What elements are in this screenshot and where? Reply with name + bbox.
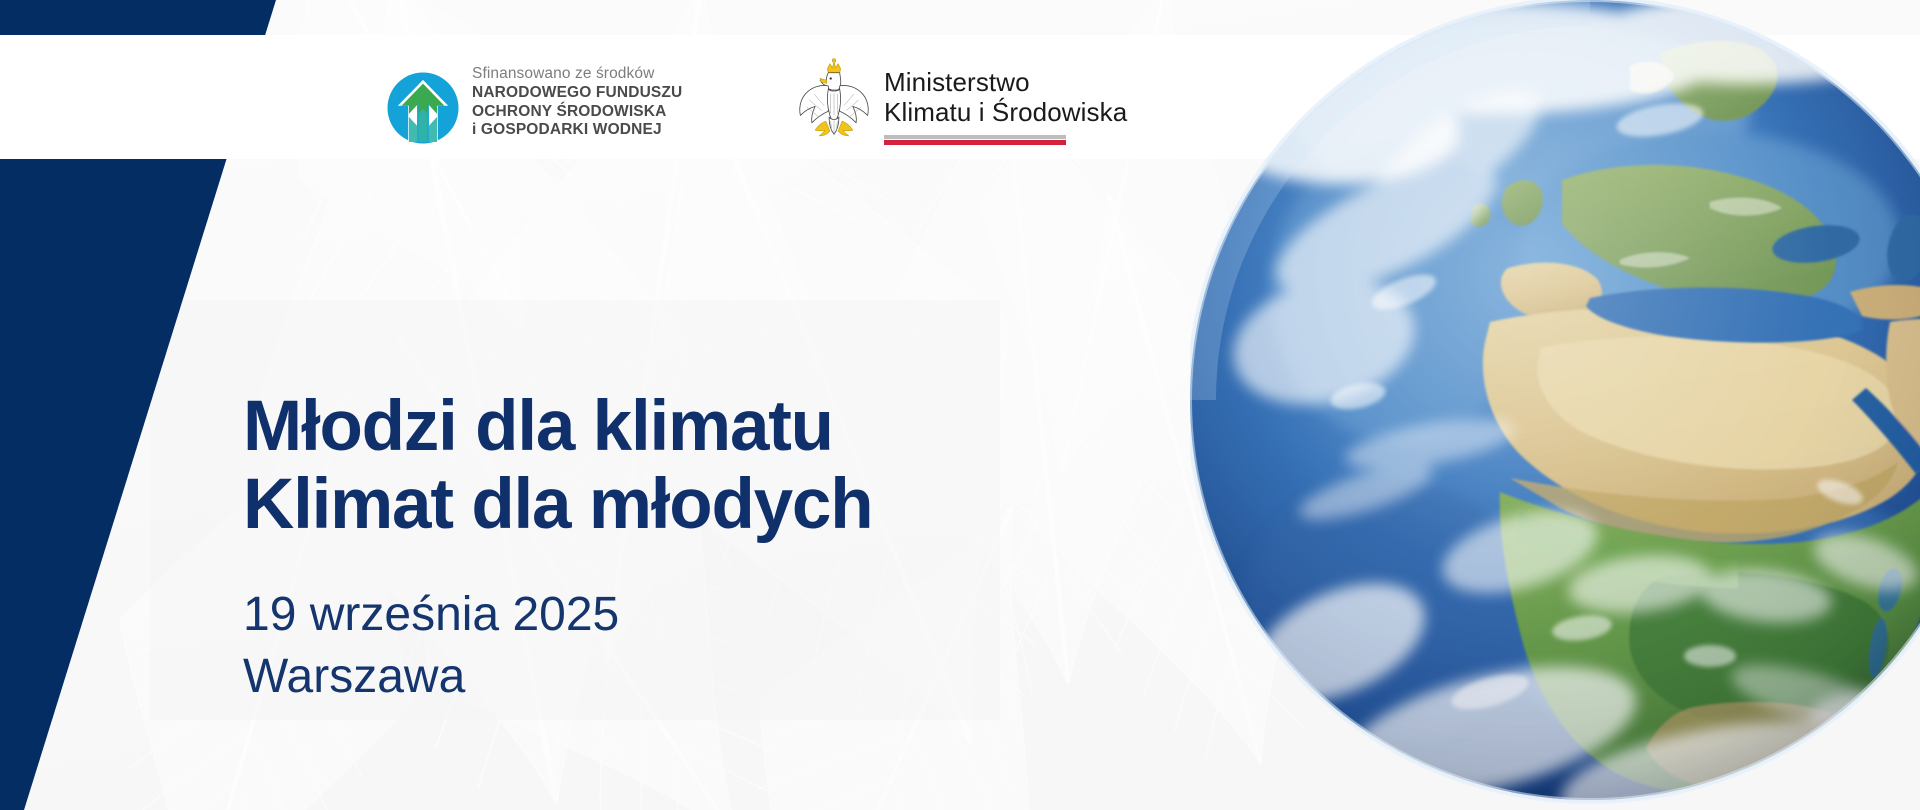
page-title-line2: Klimat dla młodych <box>243 466 872 544</box>
funding-label-line2: NARODOWEGO FUNDUSZU <box>472 84 682 103</box>
funding-label-line3: OCHRONY ŚRODOWISKA <box>472 103 682 122</box>
polish-eagle-emblem-icon <box>793 53 875 145</box>
page-title-line1: Młodzi dla klimatu <box>243 388 872 466</box>
gray-bar <box>884 135 1066 139</box>
hero-text-block: Młodzi dla klimatu Klimat dla młodych 19… <box>243 388 872 708</box>
nfosigw-logo: Sfinansowano ze środków NARODOWEGO FUNDU… <box>386 61 682 145</box>
nfosigw-mark-icon <box>386 71 460 145</box>
ministry-name-line1: Ministerstwo <box>884 67 1127 97</box>
event-city: Warszawa <box>243 646 872 708</box>
ministry-text-block: Ministerstwo Klimatu i Środowiska <box>884 53 1127 145</box>
ministry-underline-bars <box>884 135 1066 145</box>
event-banner: Sfinansowano ze środków NARODOWEGO FUNDU… <box>0 0 1920 810</box>
funding-label-line4: i GOSPODARKI WODNEJ <box>472 121 682 140</box>
ministry-name-line2: Klimatu i Środowiska <box>884 97 1127 127</box>
logo-row: Sfinansowano ze środków NARODOWEGO FUNDU… <box>0 35 1920 159</box>
red-bar <box>884 140 1066 145</box>
nfosigw-text-block: Sfinansowano ze środków NARODOWEGO FUNDU… <box>472 61 682 140</box>
event-date: 19 września 2025 <box>243 584 872 646</box>
ministry-logo: Ministerstwo Klimatu i Środowiska <box>793 53 1127 145</box>
funding-label-line1: Sfinansowano ze środków <box>472 64 682 84</box>
